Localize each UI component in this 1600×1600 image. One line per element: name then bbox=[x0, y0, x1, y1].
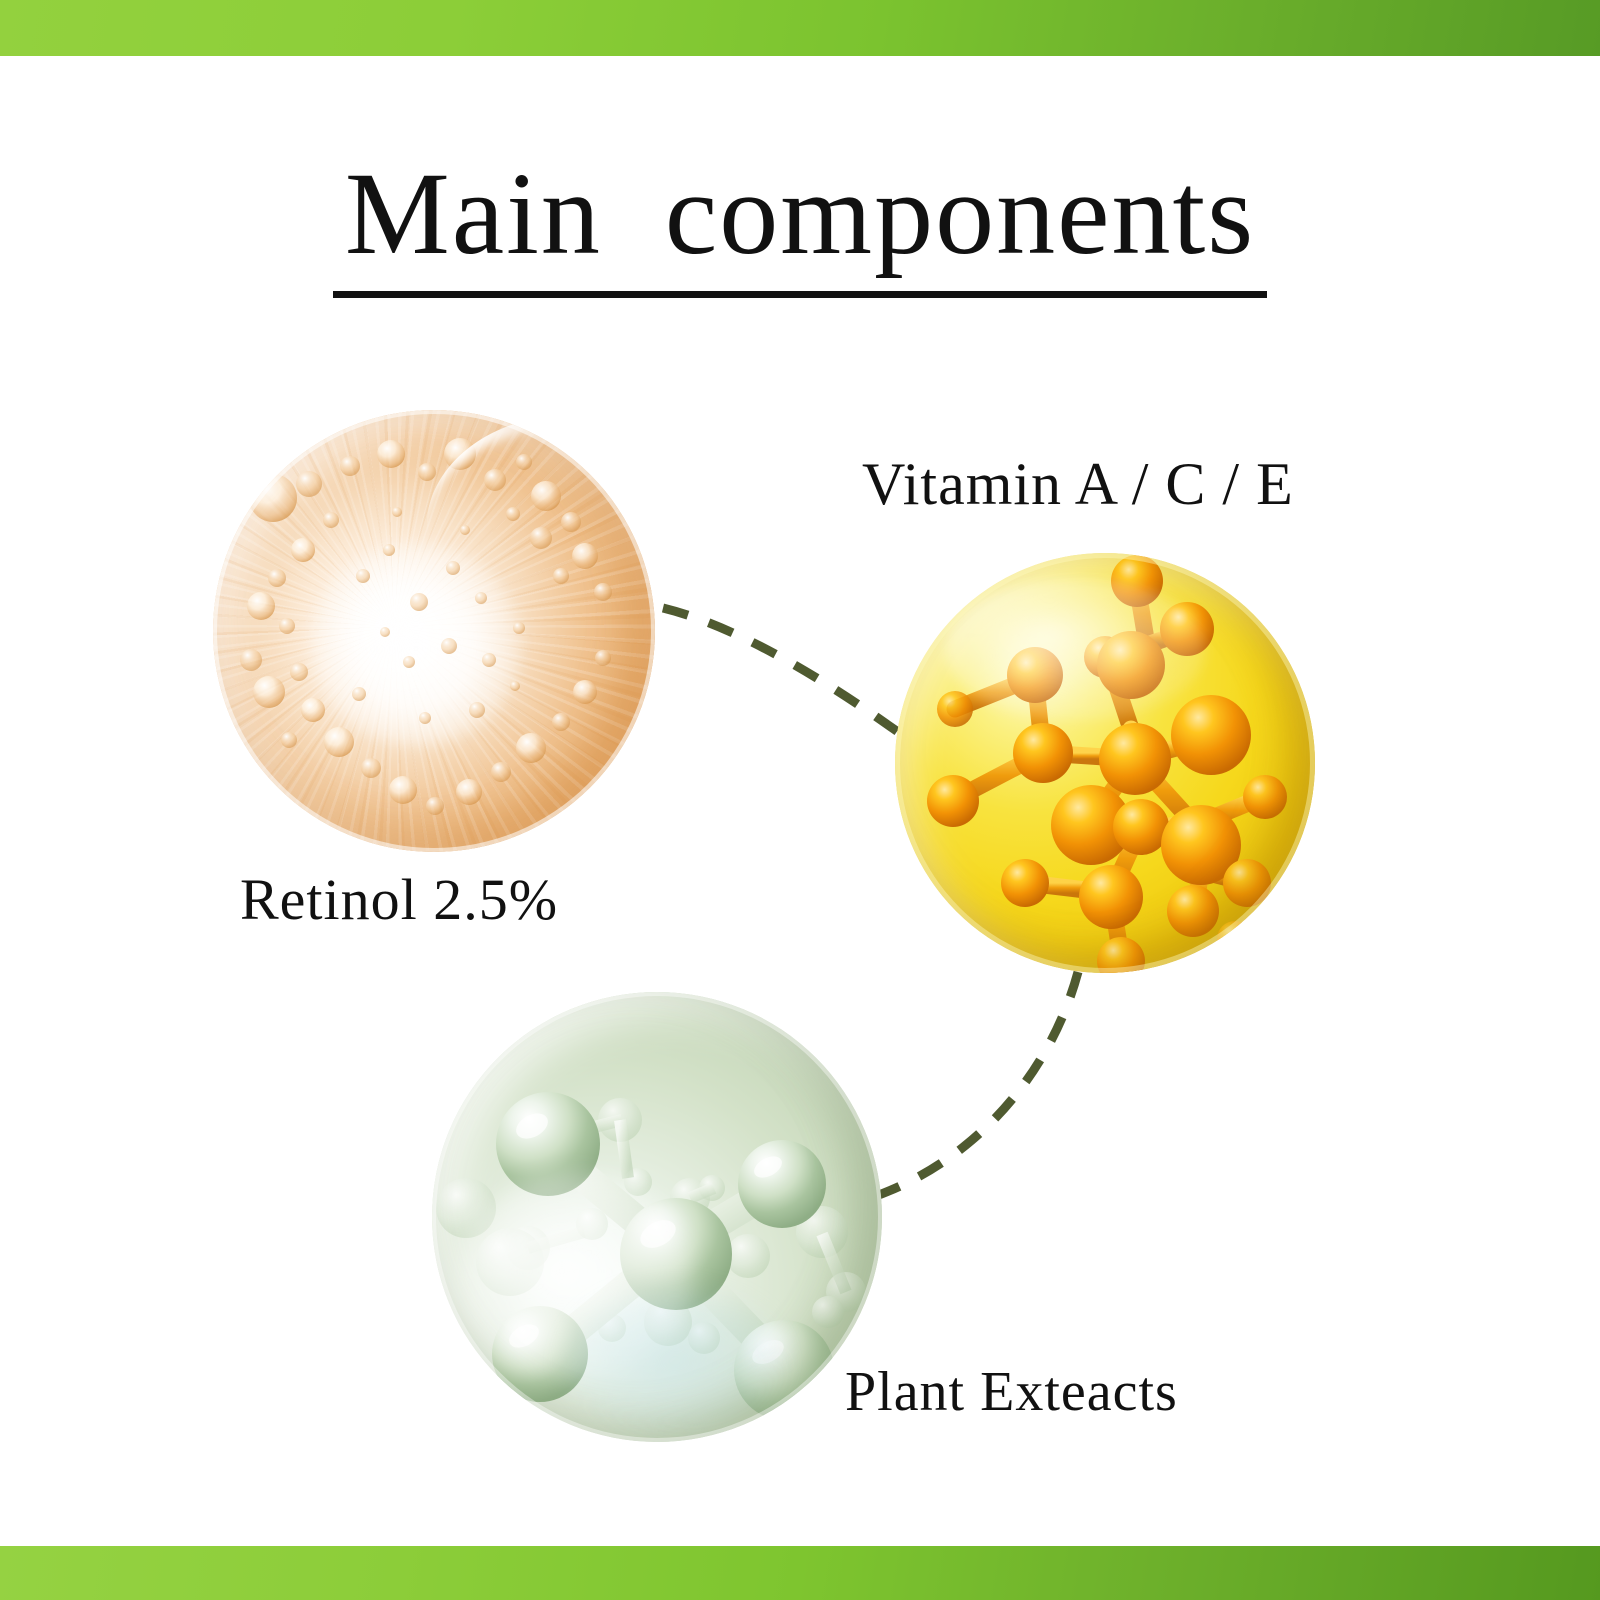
vitamin-to-plant-dashed-line bbox=[876, 972, 1078, 1196]
retinol-label: Retinol 2.5% bbox=[240, 866, 558, 933]
plant-extracts-sphere bbox=[432, 992, 882, 1442]
bottom-green-band bbox=[0, 1546, 1600, 1600]
top-green-band bbox=[0, 0, 1600, 56]
retinol-rim-shading bbox=[213, 410, 655, 852]
page-title: Main components bbox=[333, 150, 1267, 298]
vitamin-rim-shading bbox=[895, 553, 1315, 973]
plant-extracts-label: Plant Exteacts bbox=[845, 1360, 1178, 1424]
plant-rim-shading bbox=[432, 992, 882, 1442]
retinol-sphere bbox=[213, 410, 655, 852]
vitamin-label: Vitamin A / C / E bbox=[862, 450, 1294, 519]
poster-canvas: Main components bbox=[0, 0, 1600, 1600]
vitamin-sphere bbox=[895, 553, 1315, 973]
retinol-to-vitamin-dashed-line bbox=[663, 608, 912, 742]
page-title-wrapper: Main components bbox=[0, 150, 1600, 298]
